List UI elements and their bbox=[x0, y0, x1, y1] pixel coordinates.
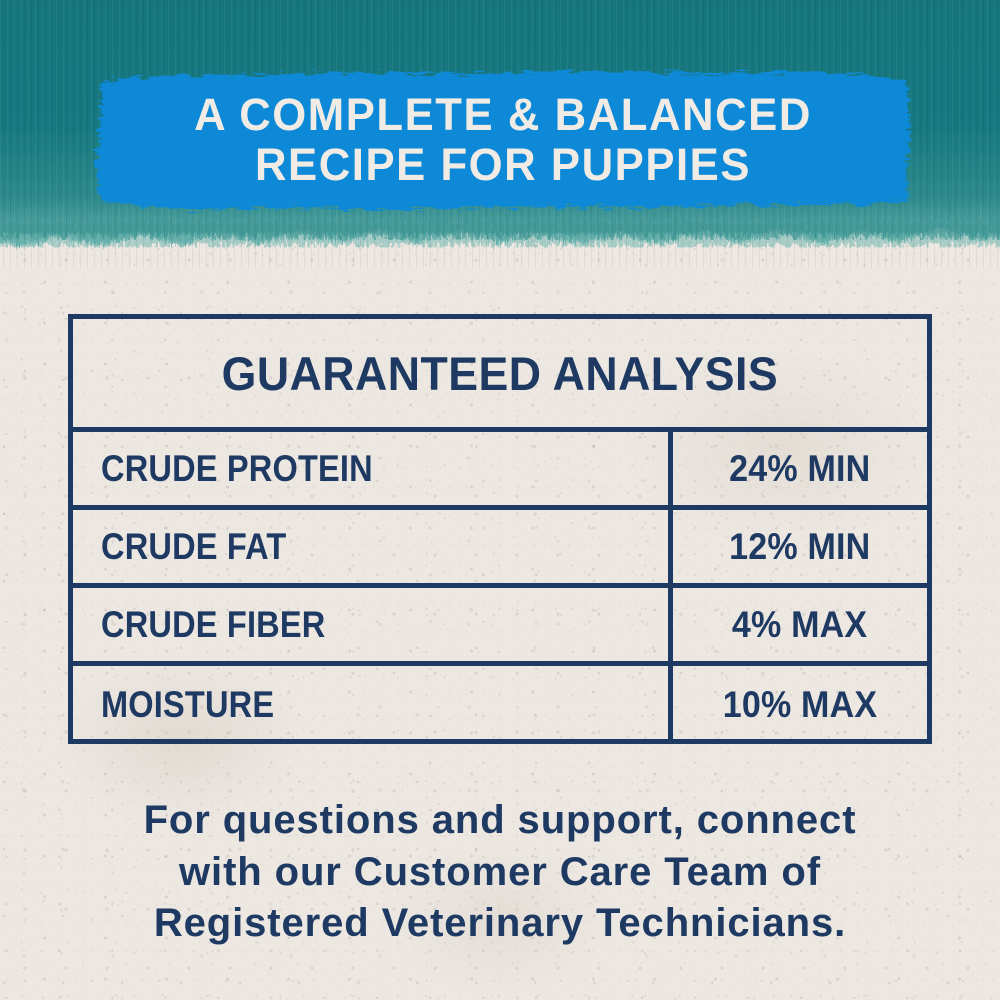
guaranteed-analysis-table: GUARANTEED ANALYSIS CRUDE PROTEIN 24% MI… bbox=[68, 314, 932, 744]
footer-line-2: with our Customer Care Team of bbox=[60, 847, 940, 899]
nutrient-label: CRUDE PROTEIN bbox=[101, 448, 373, 490]
guaranteed-analysis-rows: CRUDE PROTEIN 24% MIN CRUDE FAT 12% MIN … bbox=[73, 432, 927, 744]
banner-line-1: A COMPLETE & BALANCED bbox=[194, 90, 812, 140]
headline-banner: A COMPLETE & BALANCED RECIPE FOR PUPPIES bbox=[88, 66, 918, 214]
table-row: CRUDE FIBER 4% MAX bbox=[73, 588, 927, 666]
nutrient-label: CRUDE FIBER bbox=[101, 604, 325, 646]
nutrient-amount: 10% MAX bbox=[723, 684, 878, 726]
nutrient-name-cell: CRUDE FAT bbox=[73, 510, 673, 583]
nutrient-amount: 12% MIN bbox=[729, 526, 870, 568]
table-row: MOISTURE 10% MAX bbox=[73, 666, 927, 744]
nutrient-label: CRUDE FAT bbox=[101, 526, 286, 568]
nutrient-label: MOISTURE bbox=[101, 684, 274, 726]
banner-headline: A COMPLETE & BALANCED RECIPE FOR PUPPIES bbox=[100, 66, 905, 214]
nutrient-name-cell: CRUDE PROTEIN bbox=[73, 432, 673, 505]
nutrient-amount-cell: 4% MAX bbox=[673, 588, 927, 661]
guaranteed-analysis-title-row: GUARANTEED ANALYSIS bbox=[73, 319, 927, 432]
footer-line-3: Registered Veterinary Technicians. bbox=[60, 898, 940, 950]
nutrient-name-cell: MOISTURE bbox=[73, 666, 673, 744]
nutrient-amount-cell: 24% MIN bbox=[673, 432, 927, 505]
nutrient-amount-cell: 10% MAX bbox=[673, 666, 927, 744]
footer-line-1: For questions and support, connect bbox=[60, 795, 940, 847]
nutrient-amount-cell: 12% MIN bbox=[673, 510, 927, 583]
nutrient-amount: 24% MIN bbox=[729, 448, 870, 490]
table-row: CRUDE PROTEIN 24% MIN bbox=[73, 432, 927, 510]
nutrient-amount: 4% MAX bbox=[732, 604, 867, 646]
nutrient-name-cell: CRUDE FIBER bbox=[73, 588, 673, 661]
table-row: CRUDE FAT 12% MIN bbox=[73, 510, 927, 588]
banner-line-2: RECIPE FOR PUPPIES bbox=[255, 140, 751, 190]
guaranteed-analysis-title: GUARANTEED ANALYSIS bbox=[222, 346, 778, 401]
packaging-panel: A COMPLETE & BALANCED RECIPE FOR PUPPIES… bbox=[0, 0, 1000, 1000]
customer-care-message: For questions and support, connect with … bbox=[60, 795, 940, 950]
